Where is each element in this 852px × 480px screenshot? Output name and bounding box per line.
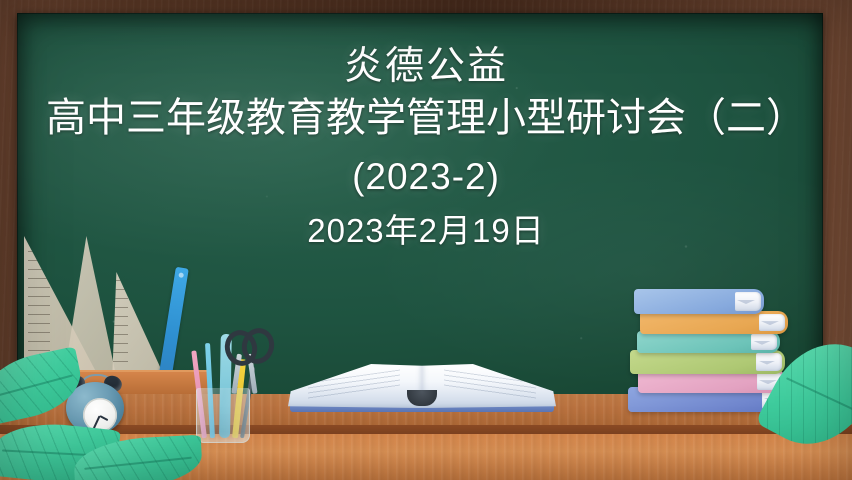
stacked-book-teal	[637, 331, 780, 353]
clock-hour-hand	[100, 415, 109, 421]
open-book-text-lines-left	[308, 370, 400, 401]
stacked-book-blue	[634, 289, 764, 314]
slide-canvas: 炎德公益 高中三年级教育教学管理小型研讨会（二） (2023-2) 2023年2…	[0, 0, 852, 480]
desk-edge-shadow	[0, 425, 852, 434]
open-book-page-left	[288, 364, 422, 408]
open-book-page-right	[422, 364, 556, 408]
scissors-icon	[225, 330, 265, 396]
book-pages	[735, 292, 761, 311]
title-line-event-name: 高中三年级教育教学管理小型研讨会（二）	[0, 88, 852, 148]
stacked-book-orange	[640, 311, 788, 334]
title-line-organization: 炎德公益	[0, 46, 852, 88]
glass-pen-cup	[196, 388, 250, 443]
title-text-block: 炎德公益 高中三年级教育教学管理小型研讨会（二） (2023-2) 2023年2…	[0, 46, 852, 257]
book-pages	[751, 334, 777, 350]
open-book	[288, 360, 556, 408]
title-line-date: 2023年2月19日	[0, 205, 852, 256]
stacked-book-green	[630, 350, 785, 374]
book-pages	[759, 314, 785, 331]
book-pages	[756, 353, 782, 371]
open-book-text-lines-right	[444, 370, 536, 401]
title-line-edition: (2023-2)	[0, 148, 852, 205]
